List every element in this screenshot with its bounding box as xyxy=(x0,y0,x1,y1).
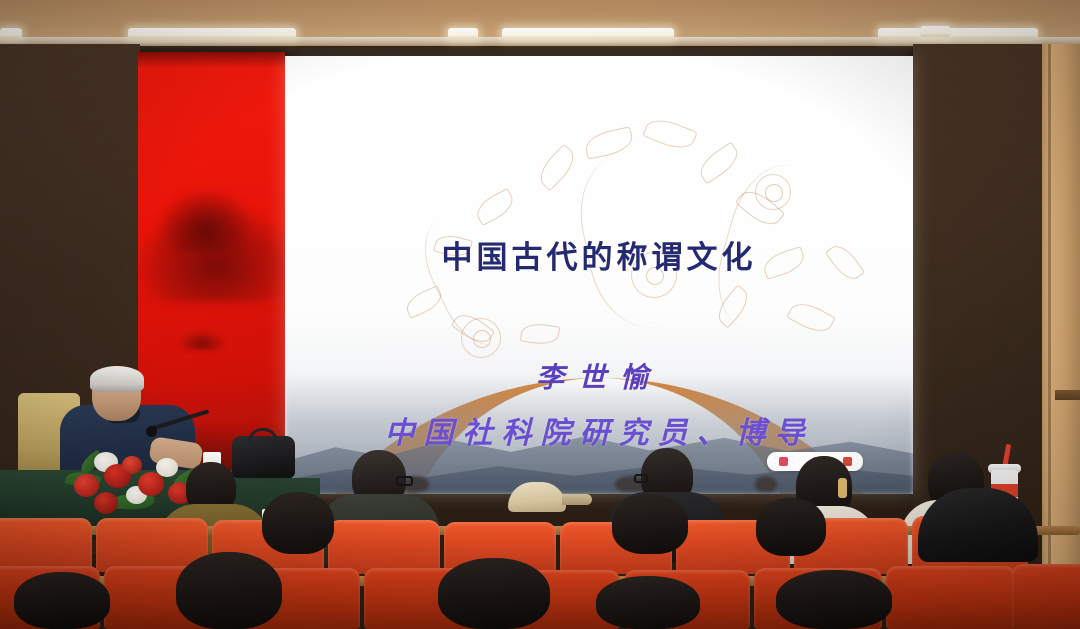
auditorium-seat-a4[interactable] xyxy=(328,520,440,574)
audience-head-front-2 xyxy=(438,558,550,629)
audience-head-a1 xyxy=(262,492,334,554)
pilaster-shelf xyxy=(1055,390,1080,400)
flower-rose-6 xyxy=(122,456,142,474)
banner-top-shadow xyxy=(138,52,288,68)
flower-rose-3 xyxy=(138,472,164,496)
audience-cap-brim xyxy=(562,494,592,505)
auditorium-seat-a1[interactable] xyxy=(0,518,92,572)
audience-head-a2 xyxy=(612,494,688,554)
flower-rose-5 xyxy=(94,492,118,514)
ceiling-light-2 xyxy=(128,28,296,39)
heart-icon[interactable] xyxy=(779,457,788,466)
ceiling-light-3 xyxy=(448,28,478,39)
audience-head-front-4 xyxy=(776,570,892,629)
ink-tree-3 xyxy=(755,476,777,492)
ceiling-light-5 xyxy=(878,28,1038,39)
slide-title: 中国古代的称谓文化 xyxy=(285,232,913,277)
auditorium-seat-b9[interactable] xyxy=(1012,564,1080,629)
pilaster-groove xyxy=(1048,44,1051,604)
slide-speaker-name: 李世愉 xyxy=(285,356,913,396)
microphone-head xyxy=(146,426,157,437)
banner-mountain-small xyxy=(156,162,266,252)
glasses-icon-2 xyxy=(634,474,648,483)
ceiling-light-1 xyxy=(0,28,22,39)
audience-head-front-5 xyxy=(14,572,110,629)
audience-head-front-1 xyxy=(176,552,282,629)
speaker-hair xyxy=(90,366,144,392)
fan-leaf-3 xyxy=(533,144,580,192)
audience-head-front-3 xyxy=(596,576,700,629)
ceiling-light-6 xyxy=(920,26,950,37)
slide-speaker-affiliation: 中国社科院研究员、博导 xyxy=(285,408,913,452)
lecture-hall-scene: 中国古代的称谓文化 李世愉 中国社科院研究员、博导 xyxy=(0,0,1080,629)
flower-rose-1 xyxy=(74,474,99,497)
projection-screen: 中国古代的称谓文化 李世愉 中国社科院研究员、博导 xyxy=(285,56,913,494)
hair-clip-icon xyxy=(838,478,847,498)
audience-head-a3 xyxy=(756,498,826,556)
ceiling-light-4 xyxy=(502,28,674,39)
auditorium-seat-b8[interactable] xyxy=(886,566,1016,629)
banner-foreground-rock xyxy=(170,320,234,350)
handbag xyxy=(232,436,295,478)
glasses-icon xyxy=(396,476,413,486)
